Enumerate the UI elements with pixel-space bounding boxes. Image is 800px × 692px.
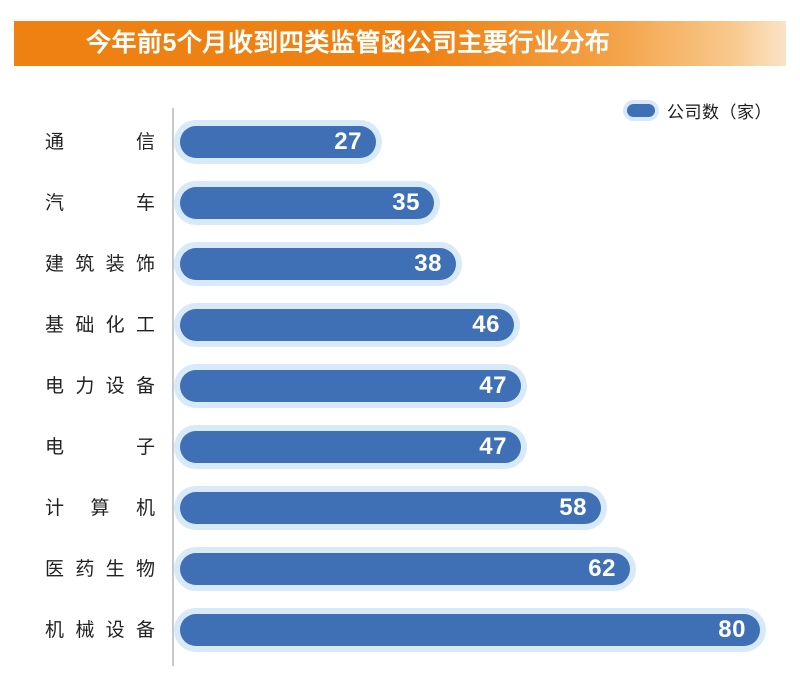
bar-wrapper: 35 (180, 187, 434, 219)
bar-value-label: 58 (559, 496, 587, 520)
bar-row: 机械设备80 (0, 601, 800, 659)
bar-wrapper: 47 (180, 370, 521, 402)
bar-row: 通信27 (0, 113, 800, 171)
bar-row: 电子47 (0, 418, 800, 476)
bar-value-label: 80 (718, 618, 746, 642)
bar-row: 基础化工46 (0, 296, 800, 354)
bar[interactable]: 62 (180, 553, 630, 585)
bar[interactable]: 47 (180, 431, 521, 463)
bar-row-label: 电力设备 (45, 377, 155, 396)
bar-value-label: 47 (479, 435, 507, 459)
bar[interactable]: 46 (180, 309, 514, 341)
chart-plot-area: 通信27汽车35建筑装饰38基础化工46电力设备47电子47计算机58医药生物6… (0, 108, 800, 674)
bar-row: 电力设备47 (0, 357, 800, 415)
bar-value-label: 38 (414, 252, 442, 276)
bar[interactable]: 27 (180, 126, 376, 158)
bar-row-label: 电子 (45, 438, 155, 457)
bar-row: 计算机58 (0, 479, 800, 537)
bar[interactable]: 35 (180, 187, 434, 219)
bar-row-label: 汽车 (45, 194, 155, 213)
bar-value-label: 47 (479, 374, 507, 398)
bar-row-label: 机械设备 (45, 621, 155, 640)
bar-wrapper: 58 (180, 492, 601, 524)
bar-row-label: 医药生物 (45, 560, 155, 579)
chart-title-banner: 今年前5个月收到四类监管函公司主要行业分布 (14, 21, 786, 66)
bar[interactable]: 38 (180, 248, 456, 280)
bar[interactable]: 47 (180, 370, 521, 402)
chart-title: 今年前5个月收到四类监管函公司主要行业分布 (86, 31, 610, 56)
bar-row-label: 计算机 (45, 499, 155, 518)
bar-wrapper: 38 (180, 248, 456, 280)
bar-row: 汽车35 (0, 174, 800, 232)
bar[interactable]: 80 (180, 614, 760, 646)
bar-row-label: 建筑装饰 (45, 255, 155, 274)
bar-wrapper: 80 (180, 614, 760, 646)
bar-value-label: 62 (588, 557, 616, 581)
bar[interactable]: 58 (180, 492, 601, 524)
bar-row-label: 基础化工 (45, 316, 155, 335)
bar-value-label: 35 (392, 191, 420, 215)
bar-wrapper: 46 (180, 309, 514, 341)
bar-value-label: 46 (472, 313, 500, 337)
bar-wrapper: 27 (180, 126, 376, 158)
bar-row: 建筑装饰38 (0, 235, 800, 293)
bar-wrapper: 62 (180, 553, 630, 585)
bar-row: 医药生物62 (0, 540, 800, 598)
bar-value-label: 27 (334, 130, 362, 154)
bar-row-label: 通信 (45, 133, 155, 152)
bar-wrapper: 47 (180, 431, 521, 463)
